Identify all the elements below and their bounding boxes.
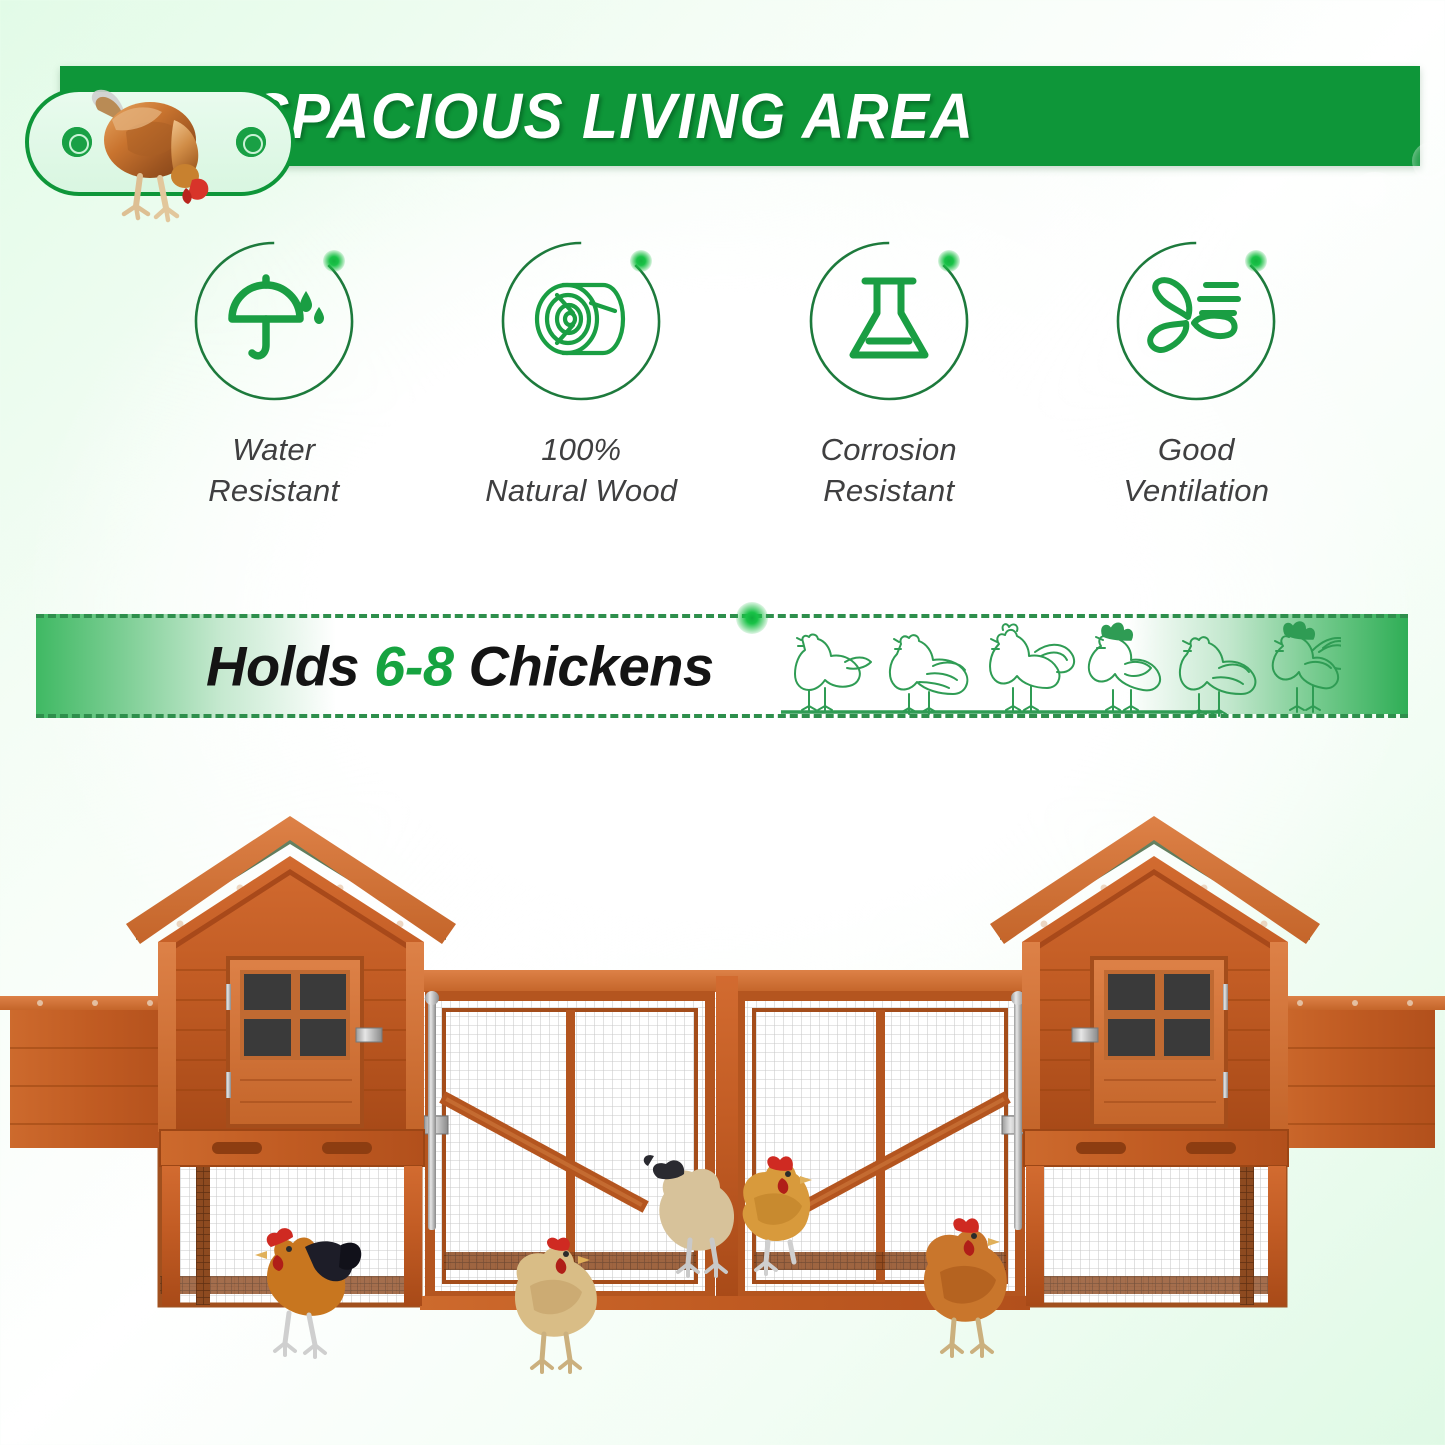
feature-good-ventilation: Good Ventilation [1043, 236, 1351, 526]
erlenmeyer-flask-icon [841, 273, 937, 369]
feature-ring [804, 236, 974, 406]
feature-label: 100% Natural Wood [485, 430, 677, 512]
feature-water-resistant: Water Resistant [120, 236, 428, 526]
left-coop-drawer [160, 1130, 424, 1166]
bubble-large-icon [1348, 172, 1402, 226]
wood-log-icon [529, 273, 633, 369]
capacity-banner: Holds 6-8 Chickens [36, 614, 1408, 718]
umbrella-raindrops-icon [222, 273, 326, 369]
feature-corrosion-resistant: Corrosion Resistant [735, 236, 1043, 526]
right-coop-window-door [1072, 958, 1228, 1126]
capacity-suffix: Chickens [454, 635, 714, 698]
ring-glow-dot-icon [323, 250, 345, 272]
bubble-small-icon [1412, 142, 1445, 180]
right-nesting-box [1265, 996, 1445, 1148]
hen-photo-icon [78, 72, 228, 224]
feature-label: Corrosion Resistant [821, 430, 957, 512]
capacity-glow-dot-icon [736, 602, 768, 634]
ring-glow-dot-icon [938, 250, 960, 272]
capacity-text: Holds 6-8 Chickens [206, 634, 714, 699]
features-row: Water Resistant [120, 236, 1350, 526]
feature-natural-wood: 100% Natural Wood [428, 236, 736, 526]
chicken-outline-flock-icon [781, 620, 1341, 718]
page-title: SPACIOUS LIVING AREA [250, 79, 974, 153]
pill-dot-right-icon [236, 127, 266, 157]
fan-ventilation-icon [1144, 273, 1248, 369]
capacity-prefix: Holds [206, 635, 374, 698]
feature-ring [1111, 236, 1281, 406]
top-banner: SPACIOUS LIVING AREA [0, 66, 1420, 166]
left-coop-window-door [226, 958, 382, 1126]
feature-ring [189, 236, 359, 406]
feature-label: Water Resistant [208, 430, 339, 512]
left-nesting-box [0, 996, 180, 1148]
feature-label-line2: Resistant [208, 471, 339, 512]
feature-label: Good Ventilation [1123, 430, 1269, 512]
feature-ring [496, 236, 666, 406]
feature-label-line2: Ventilation [1123, 471, 1269, 512]
feature-label-line1: Corrosion [821, 430, 957, 471]
feature-label-line2: Resistant [821, 471, 957, 512]
right-coop-drawer [1024, 1130, 1288, 1166]
right-run-enclosure [1025, 1150, 1285, 1305]
capacity-count: 6-8 [374, 635, 453, 698]
feature-label-line2: Natural Wood [485, 471, 677, 512]
product-image-chicken-coop [0, 800, 1445, 1400]
capacity-dashed-top [36, 614, 1408, 618]
feature-label-line1: 100% [485, 430, 677, 471]
feature-label-line1: Water [208, 430, 339, 471]
feature-label-line1: Good [1123, 430, 1269, 471]
